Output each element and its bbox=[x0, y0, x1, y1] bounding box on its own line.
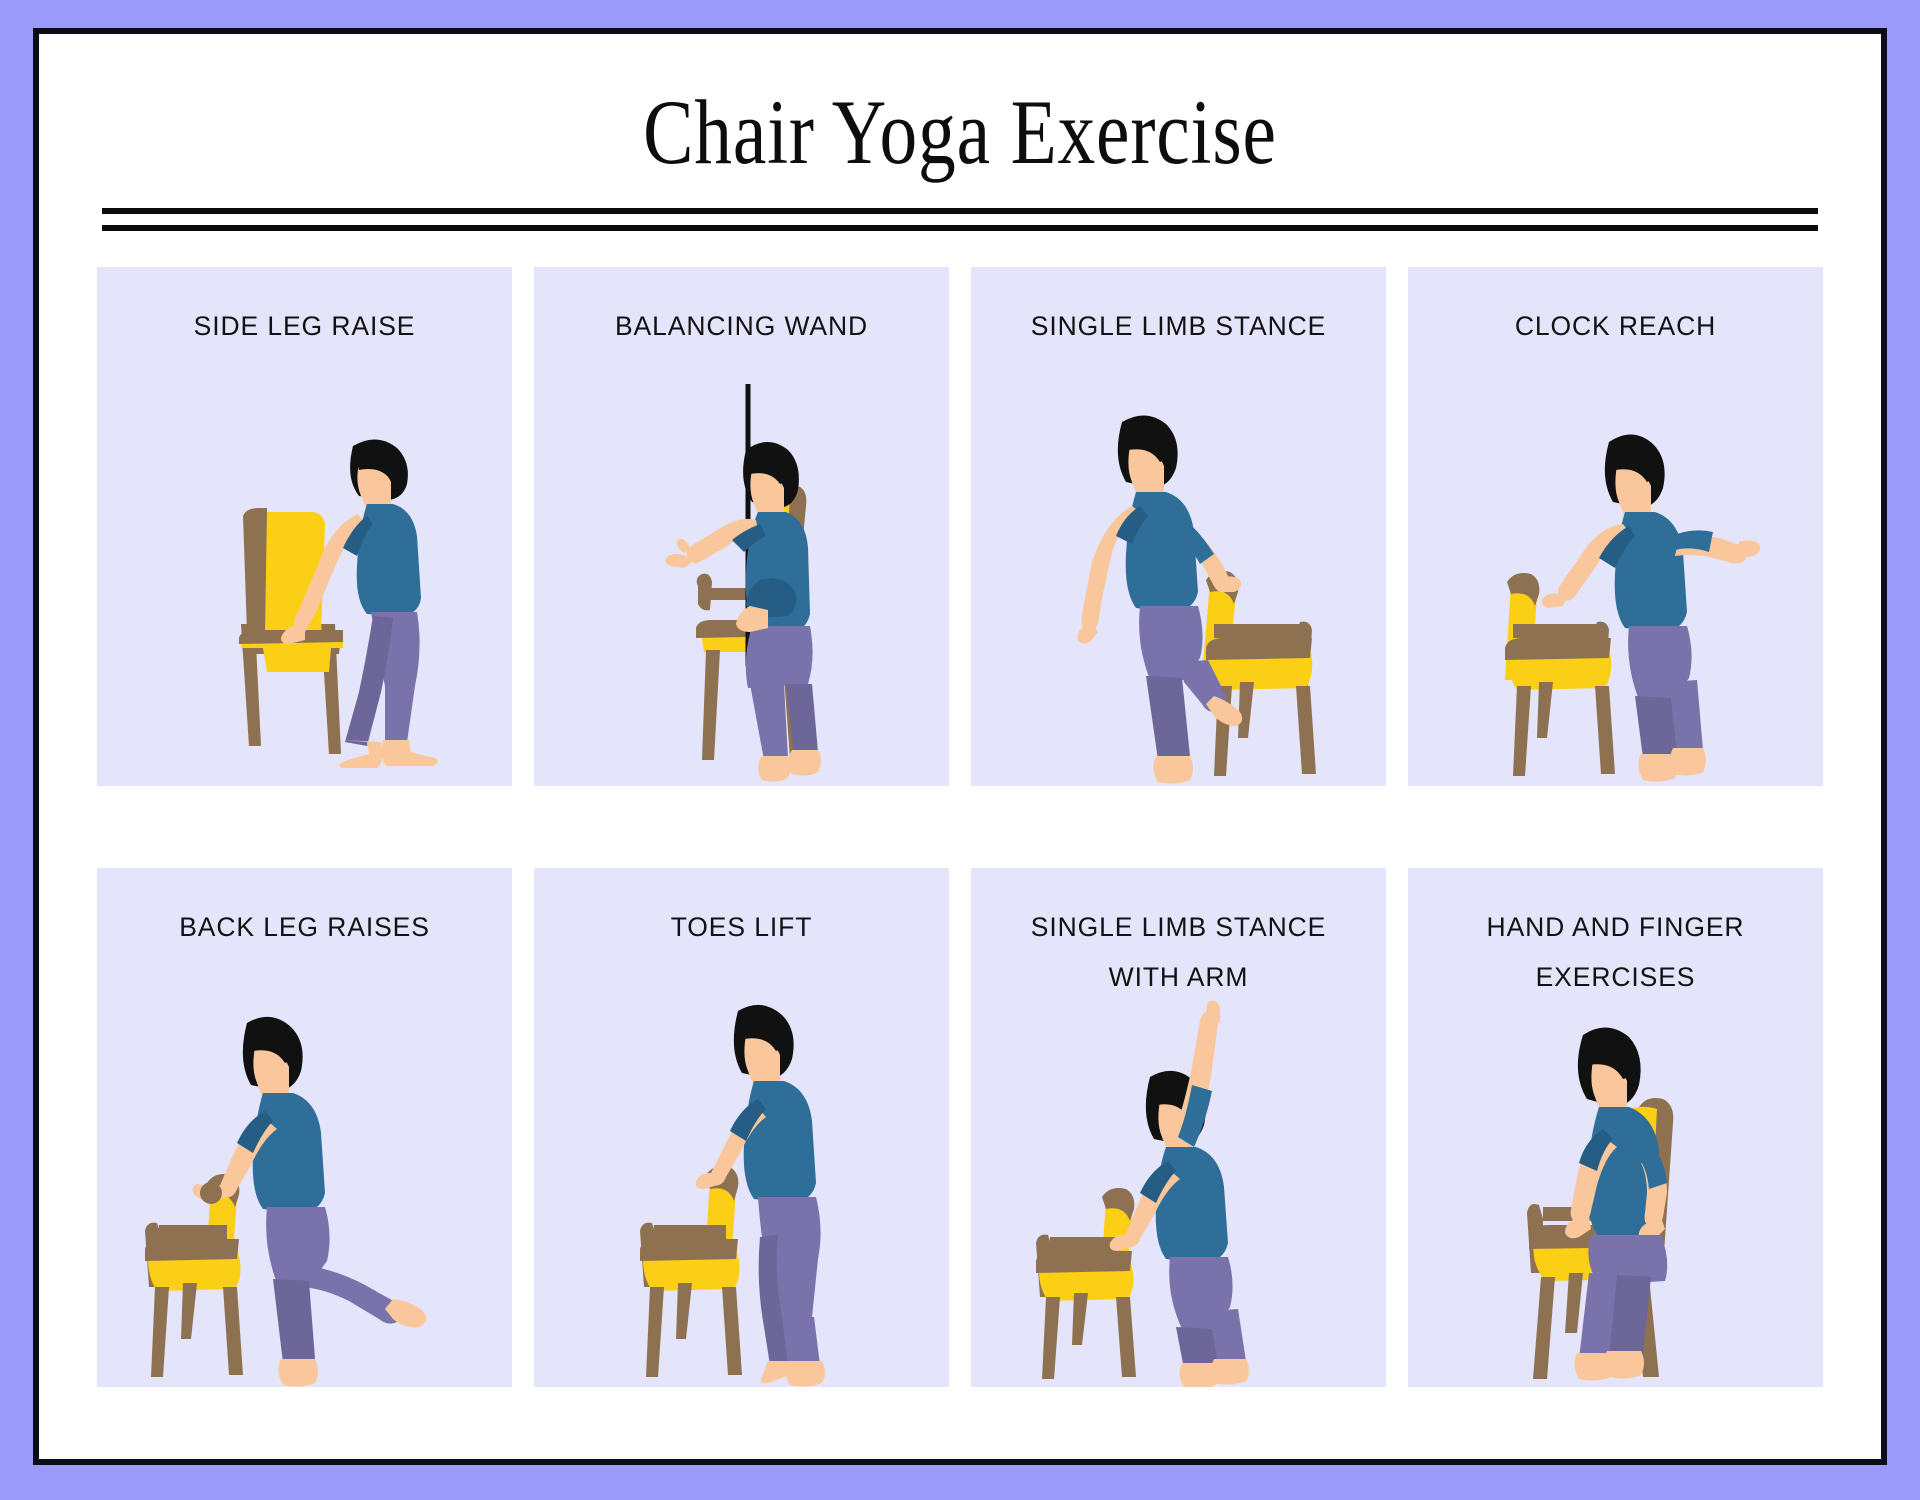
title-divider bbox=[102, 208, 1818, 231]
exercise-illustration-balancing-wand bbox=[534, 366, 949, 786]
divider-line-bottom bbox=[102, 225, 1818, 231]
chair-icon bbox=[640, 1166, 742, 1377]
page-title: Chair Yoga Exercise bbox=[205, 86, 1715, 178]
exercise-title: BACK LEG RAISES bbox=[169, 902, 440, 952]
exercise-card-back-leg-raises[interactable]: BACK LEG RAISES bbox=[97, 868, 512, 1387]
title-block: Chair Yoga Exercise bbox=[39, 34, 1881, 178]
exercise-title-line-1: SINGLE LIMB STANCE bbox=[1031, 902, 1327, 952]
person-icon bbox=[1541, 434, 1759, 781]
exercise-title-line-1: HAND AND FINGER bbox=[1487, 902, 1745, 952]
exercise-card-single-limb-stance-with-arm[interactable]: SINGLE LIMB STANCE WITH ARM bbox=[971, 868, 1386, 1387]
chair-icon bbox=[1202, 571, 1316, 776]
exercise-title: TOES LIFT bbox=[661, 902, 823, 952]
exercise-title: SIDE LEG RAISE bbox=[184, 301, 426, 351]
exercise-card-toes-lift[interactable]: TOES LIFT bbox=[534, 868, 949, 1387]
exercise-grid: SIDE LEG RAISE bbox=[97, 267, 1823, 1387]
chair-icon bbox=[145, 1174, 243, 1377]
exercise-card-hand-and-finger-exercises[interactable]: HAND AND FINGER EXERCISES bbox=[1408, 868, 1823, 1387]
person-icon bbox=[281, 439, 438, 768]
divider-line-top bbox=[102, 208, 1818, 214]
chair-icon bbox=[1036, 1188, 1136, 1379]
exercise-card-balancing-wand[interactable]: BALANCING WAND bbox=[534, 267, 949, 786]
exercise-card-clock-reach[interactable]: CLOCK REACH bbox=[1408, 267, 1823, 786]
exercise-title: CLOCK REACH bbox=[1505, 301, 1726, 351]
exercise-title: BALANCING WAND bbox=[605, 301, 878, 351]
exercise-illustration-back-leg-raises bbox=[97, 967, 512, 1387]
exercise-card-single-limb-stance[interactable]: SINGLE LIMB STANCE bbox=[971, 267, 1386, 786]
exercise-illustration-toes-lift bbox=[534, 967, 949, 1387]
exercise-illustration-side-leg-raise bbox=[97, 366, 512, 786]
exercise-illustration-clock-reach bbox=[1408, 366, 1823, 786]
exercise-illustration-single-limb-stance-with-arm bbox=[971, 967, 1386, 1387]
poster-frame: Chair Yoga Exercise SIDE LEG RAISE bbox=[33, 28, 1887, 1465]
exercise-card-side-leg-raise[interactable]: SIDE LEG RAISE bbox=[97, 267, 512, 786]
exercise-illustration-hand-and-finger-exercises bbox=[1408, 967, 1823, 1387]
exercise-title: SINGLE LIMB STANCE bbox=[1021, 301, 1337, 351]
exercise-illustration-single-limb-stance bbox=[971, 366, 1386, 786]
